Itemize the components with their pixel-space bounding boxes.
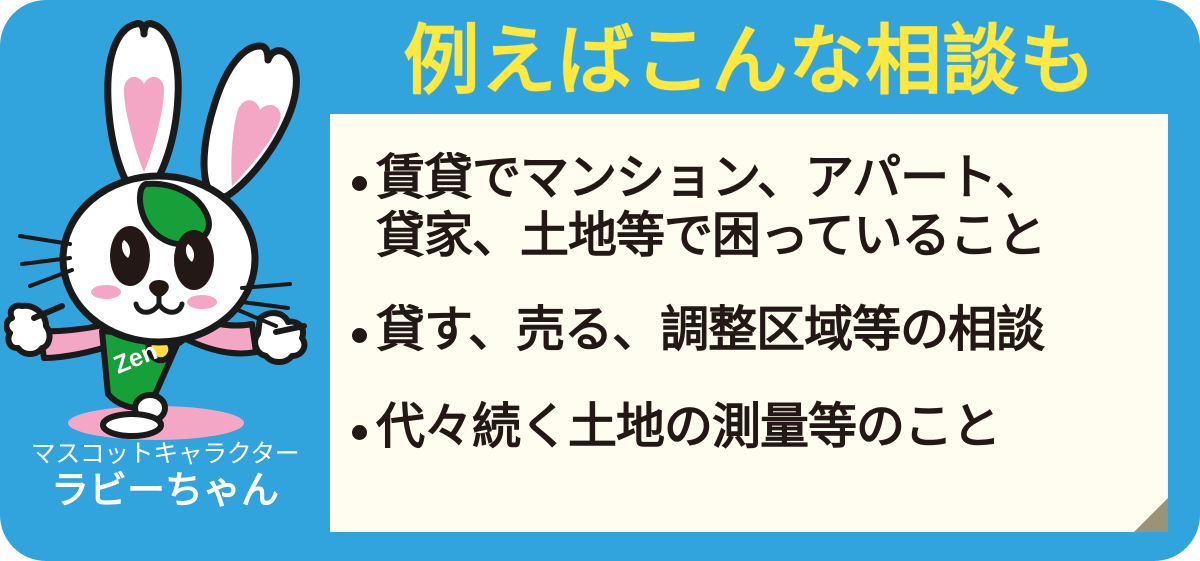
right-eye xyxy=(174,230,214,290)
bullet-dot-icon xyxy=(352,176,367,191)
left-eye xyxy=(110,226,150,286)
mascot-name-label: ラビーちゃん xyxy=(0,470,330,513)
list-item-text: 代々続く土地の測量等のこと xyxy=(376,399,1000,457)
folded-corner-decoration xyxy=(1134,498,1168,532)
page-title: 例えばこんな相談も xyxy=(330,14,1170,110)
mascot-role-label: マスコットキャラクター xyxy=(0,440,330,468)
mascot-illustration: Zen xyxy=(4,6,330,446)
bullet-dot-icon xyxy=(352,425,367,440)
bullet-dot-icon xyxy=(352,328,367,343)
content-panel: 賃貸でマンション、アパート、 貸家、土地等で困っていること 貸す、売る、調整区域… xyxy=(330,114,1168,532)
list-item: 貸す、売る、調整区域等の相談 xyxy=(352,302,1158,360)
right-cheek xyxy=(187,295,217,309)
list-item-text: 貸す、売る、調整区域等の相談 xyxy=(376,302,1044,360)
bullet-list: 賃貸でマンション、アパート、 貸家、土地等で困っていること 貸す、売る、調整区域… xyxy=(352,130,1158,522)
mascot-caption: マスコットキャラクター ラビーちゃん xyxy=(0,440,330,513)
list-item: 賃貸でマンション、アパート、 貸家、土地等で困っていること xyxy=(352,150,1158,266)
list-item: 代々続く土地の測量等のこと xyxy=(352,399,1158,457)
list-item-text: 賃貸でマンション、アパート、 貸家、土地等で困っていること xyxy=(376,150,1046,266)
left-cheek xyxy=(91,285,121,299)
poster-root: 例えばこんな相談も xyxy=(0,0,1200,561)
rabbit-mascot-icon: Zen xyxy=(4,6,330,446)
foot xyxy=(103,414,161,436)
